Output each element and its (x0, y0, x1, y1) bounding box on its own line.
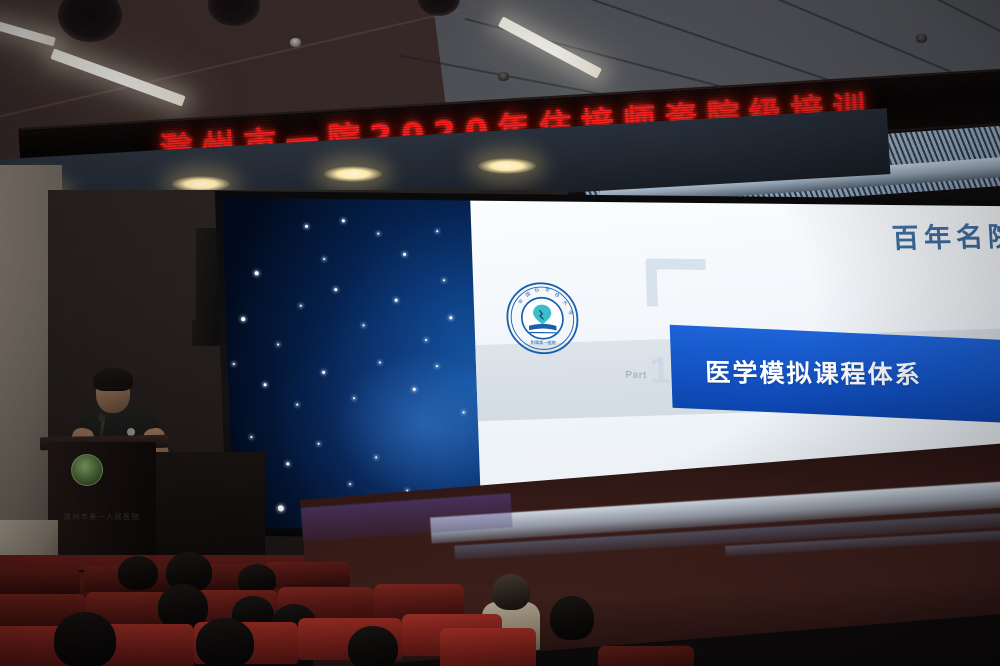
sprinkler-head-icon (916, 34, 927, 43)
glasses-icon (97, 387, 129, 394)
svg-text:附属第一医院: 附属第一医院 (530, 339, 556, 345)
slide-watermark-shape (646, 258, 708, 307)
sprinkler-head-icon (290, 38, 301, 47)
seat (264, 562, 350, 588)
slide-section-title: 医学模拟课程体系 (705, 353, 922, 391)
seat (374, 584, 464, 618)
seat (0, 568, 80, 594)
audience-seating (0, 560, 1000, 666)
stage-table (155, 452, 265, 572)
attendee-head (348, 626, 398, 666)
attendee-head (196, 618, 254, 666)
part-number-text: 1 (649, 354, 671, 386)
part-label: Part 1 (625, 353, 671, 386)
part-word-text: Part (625, 369, 647, 381)
attendee-head (492, 574, 530, 610)
seat (598, 646, 694, 666)
svg-text:国: 国 (525, 291, 533, 299)
podium-front-text: 滁州市第一人民医院 (62, 512, 142, 522)
wall-mounted-speaker (192, 320, 222, 346)
downlight-fixture (478, 158, 536, 174)
seat (440, 628, 536, 666)
calligraphy-text: 百年名院 (891, 215, 1000, 256)
university-seal-logo: 中 国 科 学 技 大 学 附属第一医院 (503, 280, 582, 357)
sprinkler-head-icon (498, 72, 509, 81)
svg-text:大: 大 (561, 299, 569, 308)
svg-text:技: 技 (554, 291, 561, 299)
downlight-fixture (324, 166, 382, 182)
auditorium-photo: 滁州市一院2020年住培师资院级培训 (0, 0, 1000, 666)
hospital-emblem (71, 454, 103, 486)
attendee-head (54, 612, 116, 666)
attendee-head (118, 556, 158, 590)
microphone-head-icon (98, 414, 105, 422)
attendee-head (550, 596, 594, 640)
